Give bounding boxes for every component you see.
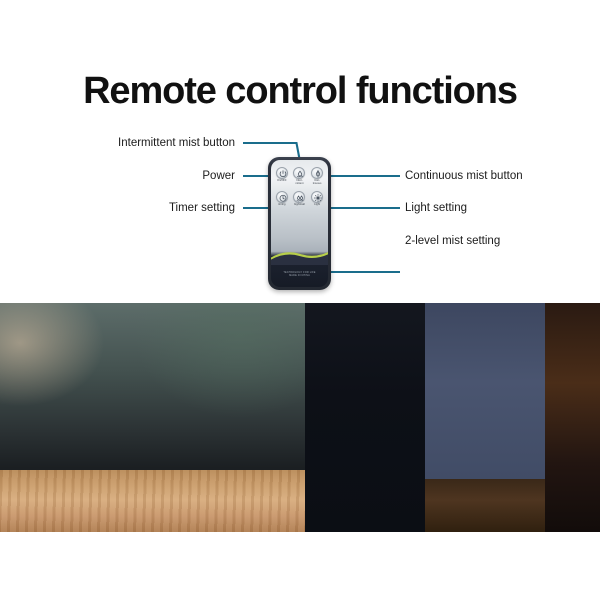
lifestyle-photo-panel: 12 hours Longlasting presence Ample 400m… — [0, 303, 600, 532]
remote-key-timing[interactable]: timing — [273, 191, 290, 207]
remote-faceplate: On/OFF Inter-mittent — [271, 160, 328, 287]
remote-key-label: Inter-mittent — [291, 180, 308, 186]
keypad-row-top: On/OFF Inter-mittent — [271, 167, 328, 186]
mist-levels-icon — [293, 191, 305, 203]
sun-icon — [311, 191, 323, 203]
night-side-panel — [545, 303, 600, 532]
remote-key-light[interactable]: Light — [309, 191, 326, 207]
mist-drop-icon — [293, 167, 305, 179]
callout-power: Power — [0, 171, 235, 183]
power-icon — [276, 167, 288, 179]
keypad-row-bottom: timing big/small — [271, 191, 328, 207]
remote-brand-text: TECHNOLOGY FOR LIFE MADE IN CHINA — [271, 271, 328, 279]
remote-functions-section: Remote control functions Intermittent mi… — [0, 0, 600, 303]
remote-key-big-small[interactable]: big/small — [291, 191, 308, 207]
remote-key-label: On/OFF — [273, 180, 290, 183]
remote-key-power[interactable]: On/OFF — [273, 167, 290, 186]
remote-key-continuous[interactable]: Con-tinuous — [309, 167, 326, 186]
remote-key-intermittent[interactable]: Inter-mittent — [291, 167, 308, 186]
remote-key-label: Light — [309, 204, 326, 207]
night-wall — [425, 303, 545, 479]
remote-keypad: On/OFF Inter-mittent — [271, 167, 328, 212]
remote-green-swoosh — [271, 249, 328, 265]
callout-continuous-mist-button: Continuous mist button — [405, 171, 600, 183]
remote-key-label: big/small — [291, 204, 308, 207]
wooden-table-surface — [0, 470, 305, 532]
remote-brand-line-2: MADE IN CHINA — [271, 274, 328, 278]
mist-stream-icon — [311, 167, 323, 179]
callout-2-level-mist-setting: 2-level mist setting — [405, 236, 600, 248]
callout-timer-setting: Timer setting — [0, 203, 235, 215]
clock-icon — [276, 191, 288, 203]
remote-key-label: Con-tinuous — [309, 180, 326, 186]
remote-key-label: timing — [273, 204, 290, 207]
callout-intermittent-mist-button: Intermittent mist button — [0, 138, 235, 150]
remote-control-device: On/OFF Inter-mittent — [268, 157, 331, 290]
callout-light-setting: Light setting — [405, 203, 600, 215]
night-floor-surface — [425, 479, 545, 532]
